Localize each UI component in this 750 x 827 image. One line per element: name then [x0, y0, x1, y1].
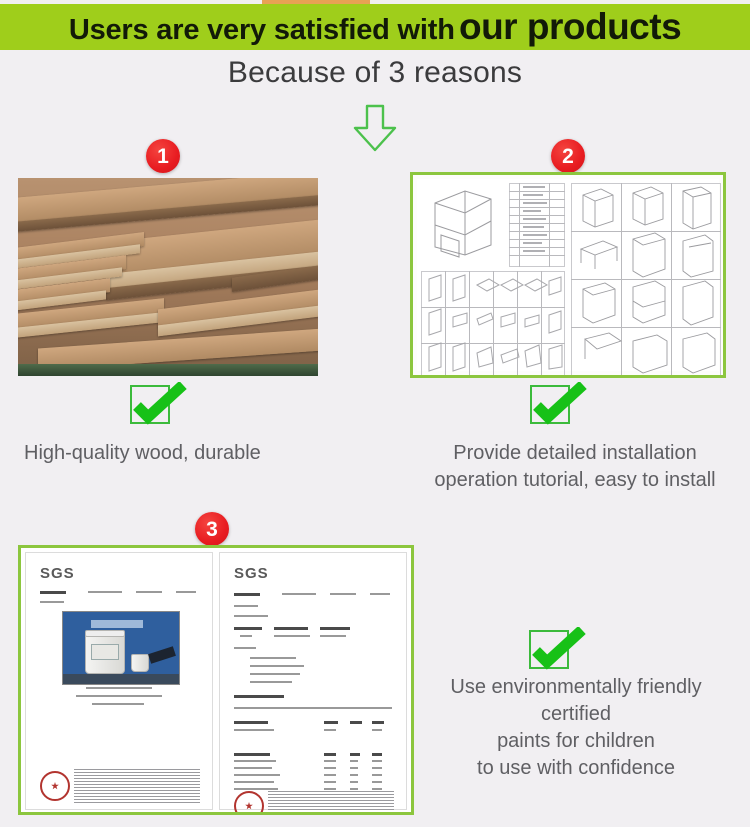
- assembly-instructions-photo: [410, 172, 726, 378]
- reason-caption-3-line1: Use environmentally friendly: [418, 674, 734, 701]
- reason-caption-3: Use environmentally friendly certified p…: [418, 674, 734, 782]
- reason-caption-3-line2: certified: [418, 701, 734, 728]
- down-arrow-icon: [345, 104, 405, 152]
- wood-panels-photo: [18, 178, 318, 376]
- sgs-test-report-photo: SGS SGS: [18, 545, 414, 815]
- reason-caption-2-line1: Provide detailed installation: [420, 440, 730, 467]
- green-check-icon-2: [528, 382, 590, 426]
- reason-badge-3: 3: [195, 512, 229, 546]
- header-title-normal: Users are very satisfied with: [69, 14, 455, 46]
- reason-caption-3-line3: paints for children: [418, 728, 734, 755]
- reason-badge-2: 2: [551, 139, 585, 173]
- sgs-report-page-left: SGS: [25, 552, 213, 810]
- header-title: Users are very satisfied with our produc…: [69, 6, 681, 48]
- green-check-icon-1: [128, 382, 190, 426]
- reason-caption-2: Provide detailed installation operation …: [420, 440, 730, 494]
- reason-caption-3-line4: to use with confidence: [418, 755, 734, 782]
- green-check-icon-3: [527, 627, 589, 671]
- sgs-report-page-right: SGS: [219, 552, 407, 810]
- reason-caption-2-line2: operation tutorial, easy to install: [420, 467, 730, 494]
- sgs-logo-right: SGS: [234, 565, 269, 582]
- subtitle: Because of 3 reasons: [0, 56, 750, 90]
- header-banner: Users are very satisfied with our produc…: [0, 4, 750, 50]
- reason-badge-1: 1: [146, 139, 180, 173]
- reason-caption-1: High-quality wood, durable: [24, 440, 261, 467]
- header-title-bold: our products: [459, 6, 681, 47]
- sgs-logo-left: SGS: [40, 565, 75, 582]
